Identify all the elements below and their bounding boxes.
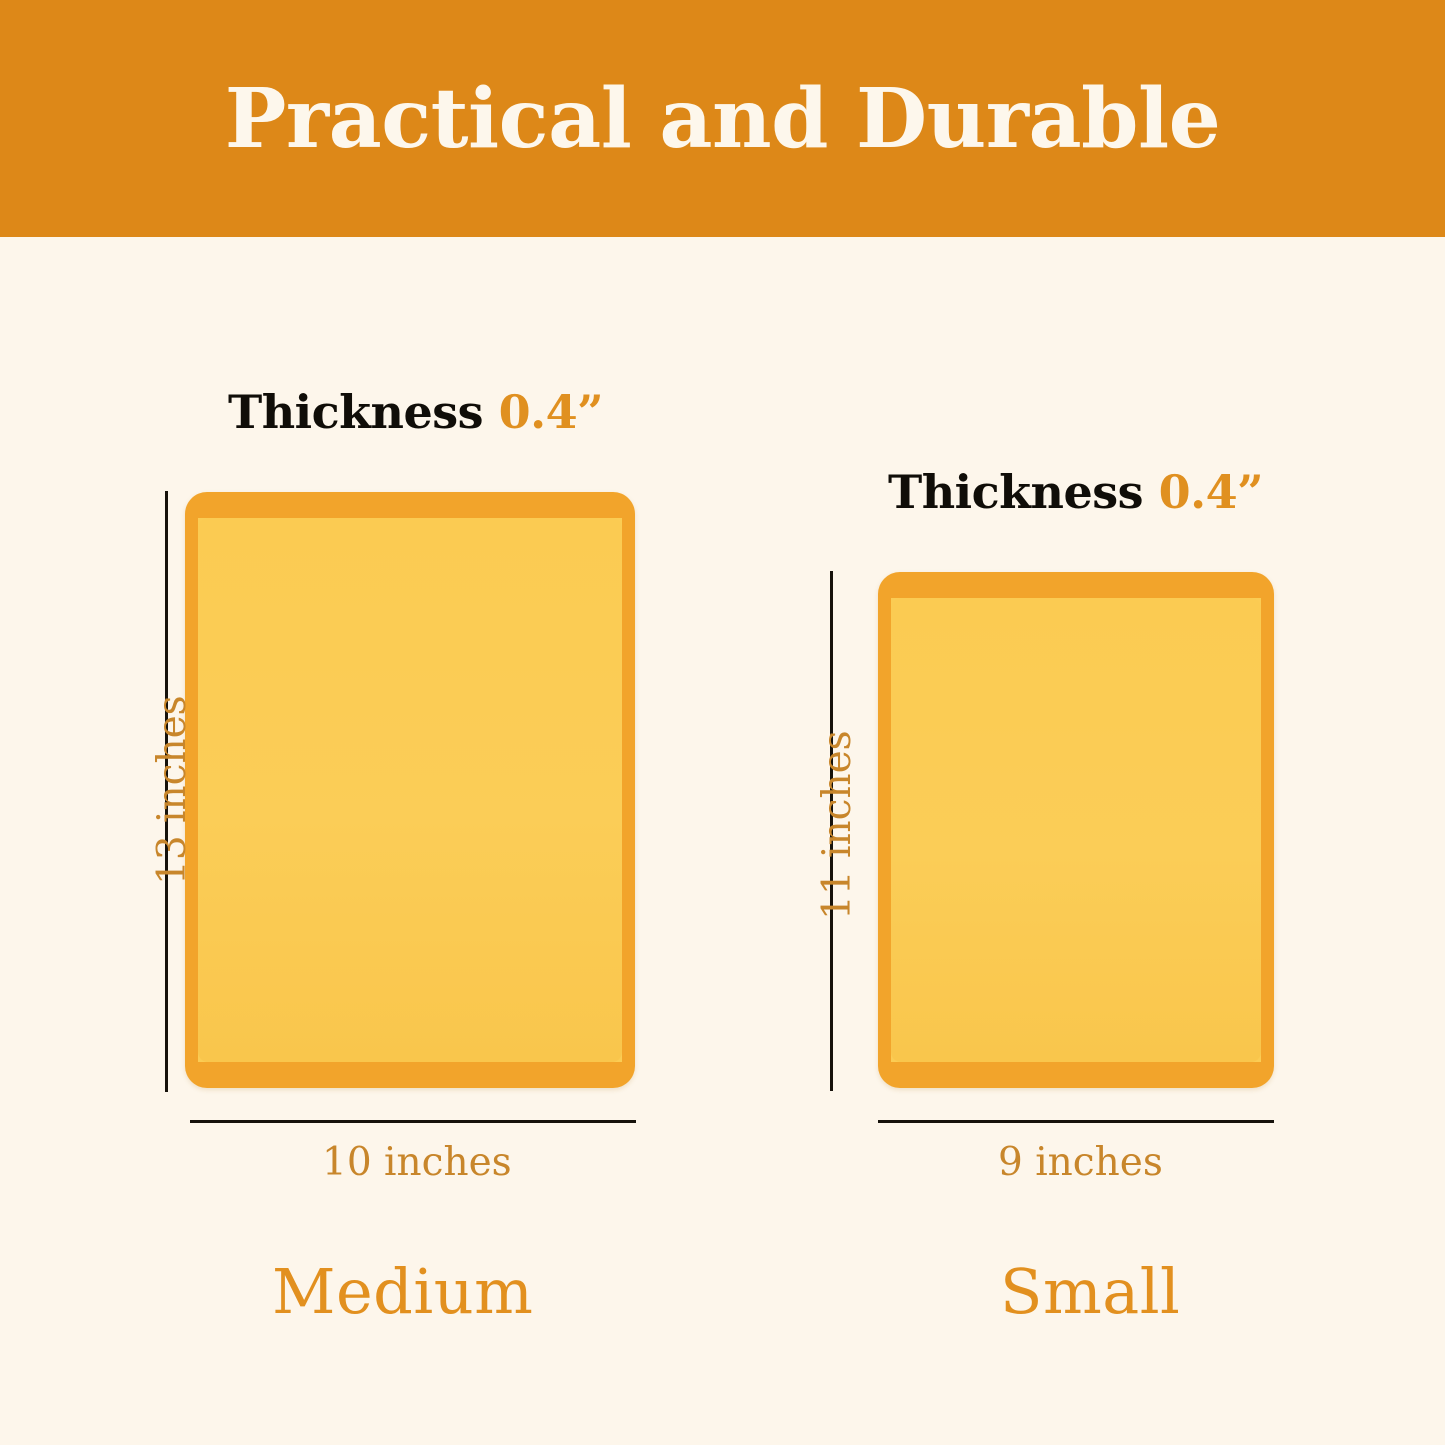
- thickness-value-small: 0.4”: [1159, 465, 1264, 519]
- thickness-label-medium: Thickness 0.4”: [228, 385, 603, 439]
- product-dimensions-infographic: Practical and Durable Thickness 0.4” 13 …: [0, 0, 1445, 1445]
- size-name-medium: Medium: [272, 1255, 533, 1328]
- mat-surface-small: [891, 598, 1261, 1062]
- width-rule-small: [878, 1120, 1274, 1123]
- product-group-medium: Thickness 0.4” 13 inches 10 inches Mediu…: [0, 0, 722, 1445]
- width-rule-medium: [190, 1120, 636, 1123]
- thickness-label-small: Thickness 0.4”: [888, 465, 1263, 519]
- height-label-medium: 13 inches: [150, 695, 195, 885]
- mat-surface-medium: [198, 518, 622, 1062]
- thickness-prefix-medium: Thickness: [228, 385, 483, 439]
- width-label-medium: 10 inches: [322, 1140, 512, 1185]
- mat-small: [878, 572, 1274, 1088]
- height-label-small: 11 inches: [815, 730, 860, 920]
- thickness-value-medium: 0.4”: [499, 385, 604, 439]
- product-group-small: Thickness 0.4” 11 inches 9 inches Small: [722, 0, 1445, 1445]
- width-label-small: 9 inches: [998, 1140, 1163, 1185]
- mat-medium: [185, 492, 635, 1088]
- thickness-prefix-small: Thickness: [888, 465, 1143, 519]
- size-name-small: Small: [1000, 1255, 1180, 1328]
